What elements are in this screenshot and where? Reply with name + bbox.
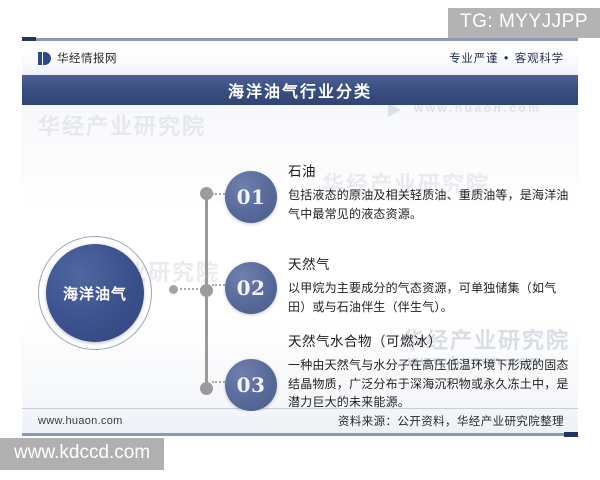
watermark-institute: 华经产业研究院 <box>38 109 206 141</box>
page-title: 海洋油气行业分类 <box>228 78 372 102</box>
card-footer: www.huaon.com 资料来源：公开资料，华经产业研究院整理 <box>22 408 578 433</box>
category-title: 石油 <box>288 160 572 180</box>
number-badge-01: 01 <box>225 171 277 223</box>
tg-watermark: TG: MYYJJPP <box>448 8 600 38</box>
brand-tagline: 专业严谨 • 客观科学 <box>449 50 564 66</box>
connector-dashed-line <box>180 288 202 290</box>
footer-source-note: 资料来源：公开资料，华经产业研究院整理 <box>338 413 564 429</box>
number-label: 02 <box>237 276 266 300</box>
hub-label: 海洋油气 <box>63 283 127 304</box>
brand-row: 华经情报网 专业严谨 • 客观科学 <box>22 41 578 75</box>
category-item: 天然气 以甲烷为主要成分的气态资源，可单独储集（如气田）或与石油伴生（伴生气）。 <box>288 253 572 316</box>
hub-node: 海洋油气 <box>38 236 152 350</box>
category-description: 以甲烷为主要成分的气态资源，可单独储集（如气田）或与石油伴生（伴生气）。 <box>288 279 572 316</box>
diagram-body: 华经产业研究院 华经产业研究院 华经产业研究院 华经产业研究院 www.huao… <box>22 105 578 411</box>
watermark-arrow-icon <box>388 105 401 117</box>
flag-mark-icon <box>38 52 51 65</box>
number-badge-02: 02 <box>225 262 277 314</box>
category-description: 一种由天然气与水分子在高压低温环境下形成的固态结晶物质，广泛分布于深海沉积物或永… <box>288 356 572 411</box>
title-bar: 海洋油气行业分类 <box>22 75 578 105</box>
brand-name: 华经情报网 <box>57 50 117 66</box>
connector-node <box>200 382 213 395</box>
category-item: 天然气水合物（可燃冰） 一种由天然气与水分子在高压低温环境下形成的固态结晶物质，… <box>288 330 572 411</box>
watermark-url: www.huaon.com <box>414 105 541 115</box>
connector-dot <box>169 285 178 294</box>
category-description: 包括液态的原油及相关轻质油、重质油等，是海洋油气中最常见的液态资源。 <box>288 186 572 223</box>
number-badge-03: 03 <box>225 359 277 411</box>
connector-rail <box>205 193 208 389</box>
slide-card: 华经情报网 专业严谨 • 客观科学 海洋油气行业分类 华经产业研究院 华经产业研… <box>22 38 578 436</box>
hub-circle: 海洋油气 <box>46 244 144 342</box>
brand-group: 华经情报网 <box>38 50 117 66</box>
site-watermark: www.kdccd.com <box>0 438 164 470</box>
category-title: 天然气水合物（可燃冰） <box>288 330 572 350</box>
category-item: 石油 包括液态的原油及相关轻质油、重质油等，是海洋油气中最常见的液态资源。 <box>288 160 572 223</box>
card-bottom-rule <box>22 433 578 436</box>
number-label: 03 <box>237 373 266 397</box>
footer-url[interactable]: www.huaon.com <box>38 415 123 427</box>
number-label: 01 <box>237 185 266 209</box>
category-title: 天然气 <box>288 253 572 273</box>
